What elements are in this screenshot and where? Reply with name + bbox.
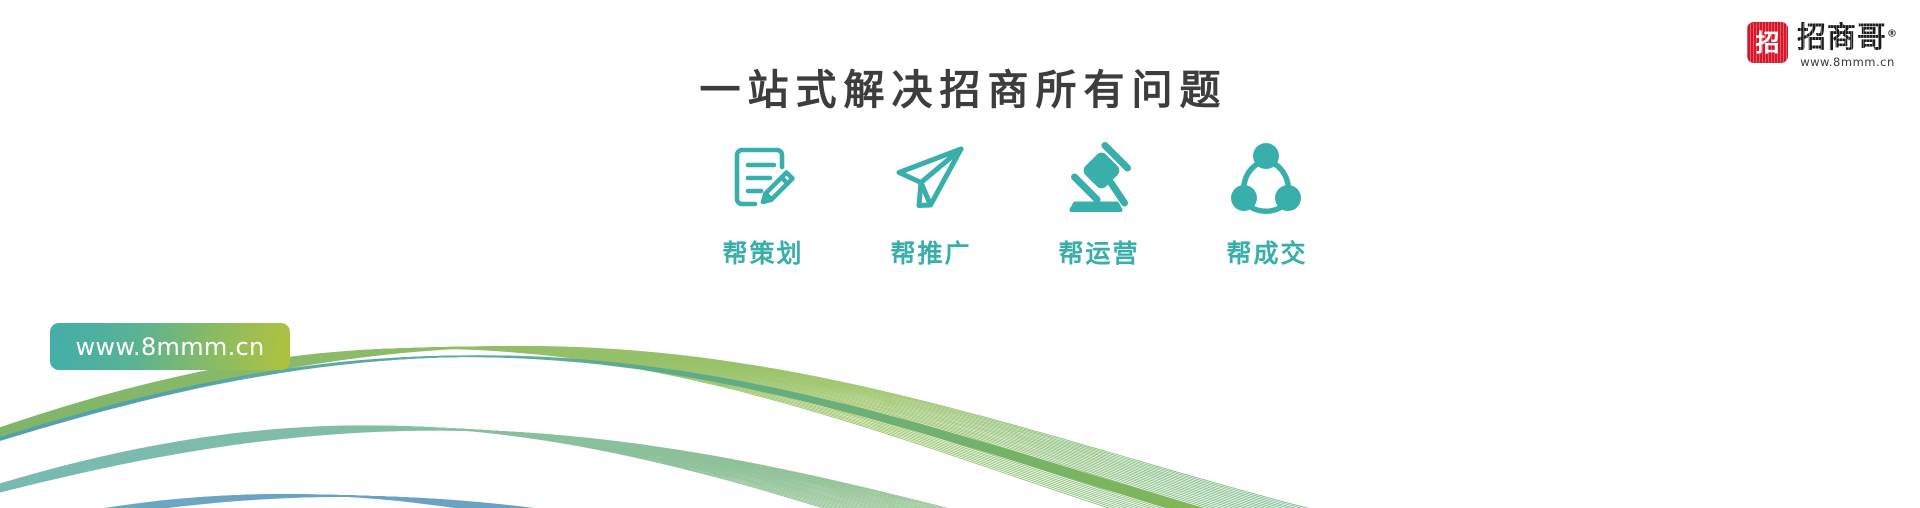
wave-line — [0, 427, 1920, 508]
wave-line — [0, 496, 1920, 508]
wave-line — [0, 495, 1920, 508]
wave-line — [0, 348, 1920, 508]
wave-line — [0, 347, 1920, 508]
wave-line — [0, 347, 1920, 508]
wave-line — [0, 356, 1920, 508]
wave-line — [0, 496, 1920, 508]
wave-line — [0, 495, 1920, 508]
wave-line — [0, 347, 1920, 508]
wave-line — [0, 495, 1920, 508]
wave-line — [0, 430, 1920, 508]
wave-line — [0, 496, 1920, 508]
wave-line — [0, 347, 1920, 508]
wave-line — [0, 347, 1920, 508]
wave-line — [0, 347, 1920, 508]
wave-line — [0, 356, 1920, 508]
wave-line — [0, 496, 1920, 508]
wave-line — [0, 427, 1920, 508]
wave-line — [0, 495, 1920, 508]
wave-line — [0, 496, 1920, 508]
feature-item-planning[interactable]: 帮策划 — [711, 136, 813, 270]
wave-line — [0, 495, 1920, 508]
wave-line — [0, 356, 1920, 508]
wave-line — [0, 347, 1920, 508]
wave-line — [0, 427, 1920, 508]
wave-line — [0, 495, 1920, 508]
wave-line — [0, 495, 1920, 508]
wave-line — [0, 348, 1920, 508]
wave-line — [0, 347, 1920, 508]
wave-line — [0, 430, 1920, 508]
wave-line — [0, 347, 1920, 508]
gavel-icon — [1057, 136, 1139, 218]
promo-banner: 招 招商哥® www.8mmm.cn 一站式解决招商所有问题 帮策划 — [0, 0, 1920, 508]
wave-line — [0, 427, 1920, 508]
wave-line — [0, 496, 1920, 508]
wave-line — [0, 348, 1920, 508]
wave-line — [0, 347, 1920, 508]
wave-line — [0, 496, 1920, 508]
wave-line — [0, 428, 1920, 508]
logo-brand-name: 招商哥® — [1797, 23, 1898, 52]
wave-line — [0, 348, 1920, 508]
wave-line — [0, 495, 1920, 508]
feature-list: 帮策划 帮推广 — [0, 136, 1920, 270]
wave-line — [0, 495, 1920, 508]
feature-label: 帮推广 — [888, 234, 971, 270]
wave-line — [0, 348, 1920, 508]
wave-line — [0, 347, 1920, 508]
logo-brand-name-text: 招商哥 — [1797, 20, 1887, 54]
wave-line — [0, 356, 1920, 508]
wave-line — [0, 347, 1920, 508]
page-title: 一站式解决招商所有问题 — [0, 56, 1920, 116]
wave-line — [0, 426, 1920, 508]
wave-line — [0, 429, 1920, 508]
wave-line — [0, 430, 1920, 508]
wave-line — [0, 496, 1920, 508]
wave-line — [0, 347, 1920, 508]
wave-line — [0, 347, 1920, 508]
wave-line — [0, 496, 1920, 508]
wave-line — [0, 495, 1920, 508]
wave-line — [0, 495, 1920, 508]
wave-line — [0, 495, 1920, 508]
wave-line — [0, 347, 1920, 508]
wave-line — [0, 428, 1920, 508]
wave-line — [0, 495, 1920, 508]
wave-line — [0, 426, 1920, 508]
wave-line — [0, 348, 1920, 508]
wave-line — [0, 426, 1920, 508]
wave-line — [0, 496, 1920, 508]
wave-line — [0, 428, 1920, 508]
registered-trademark-icon: ® — [1887, 28, 1898, 39]
wave-line — [0, 356, 1920, 508]
wave-line — [0, 356, 1920, 508]
wave-line — [0, 430, 1920, 508]
wave-line — [0, 428, 1920, 508]
website-url-text: www.8mmm.cn — [75, 333, 264, 361]
wave-line — [0, 495, 1920, 508]
wave-line — [0, 347, 1920, 508]
document-pencil-icon — [721, 136, 803, 218]
wave-line — [0, 429, 1920, 508]
wave-line — [0, 427, 1920, 508]
wave-line — [0, 347, 1920, 508]
wave-line — [0, 495, 1920, 508]
wave-line — [0, 347, 1920, 508]
wave-line — [0, 496, 1920, 508]
feature-label: 帮成交 — [1224, 234, 1307, 270]
wave-line — [0, 347, 1920, 508]
wave-line — [0, 348, 1920, 508]
wave-line — [0, 495, 1920, 508]
wave-line — [0, 356, 1920, 508]
feature-label: 帮策划 — [720, 234, 803, 270]
wave-line — [0, 496, 1920, 508]
share-nodes-icon — [1225, 136, 1307, 218]
wave-line — [0, 429, 1920, 508]
wave-line — [0, 429, 1920, 508]
wave-line — [0, 426, 1920, 508]
wave-line — [0, 428, 1920, 508]
wave-line — [0, 356, 1920, 508]
wave-line — [0, 348, 1920, 508]
wave-line — [0, 428, 1920, 508]
wave-line — [0, 356, 1920, 508]
wave-line — [0, 426, 1920, 508]
wave-line — [0, 495, 1920, 508]
wave-line — [0, 427, 1920, 508]
wave-line — [0, 347, 1920, 508]
wave-line — [0, 428, 1920, 508]
wave-line — [0, 430, 1920, 508]
wave-line — [0, 348, 1920, 508]
website-url-badge[interactable]: www.8mmm.cn — [50, 323, 290, 370]
wave-line — [0, 495, 1920, 508]
wave-line — [0, 426, 1920, 508]
feature-label: 帮运营 — [1056, 234, 1139, 270]
wave-line — [0, 427, 1920, 508]
feature-item-promotion[interactable]: 帮推广 — [879, 136, 981, 270]
wave-line — [0, 347, 1920, 508]
feature-item-closing[interactable]: 帮成交 — [1215, 136, 1317, 270]
wave-line — [0, 347, 1920, 508]
wave-line — [0, 495, 1920, 508]
feature-item-operations[interactable]: 帮运营 — [1047, 136, 1149, 270]
wave-line — [0, 429, 1920, 508]
wave-line — [0, 348, 1920, 508]
wave-line — [0, 497, 1920, 508]
wave-line — [0, 347, 1920, 508]
wave-line — [0, 347, 1920, 508]
paper-plane-icon — [889, 136, 971, 218]
